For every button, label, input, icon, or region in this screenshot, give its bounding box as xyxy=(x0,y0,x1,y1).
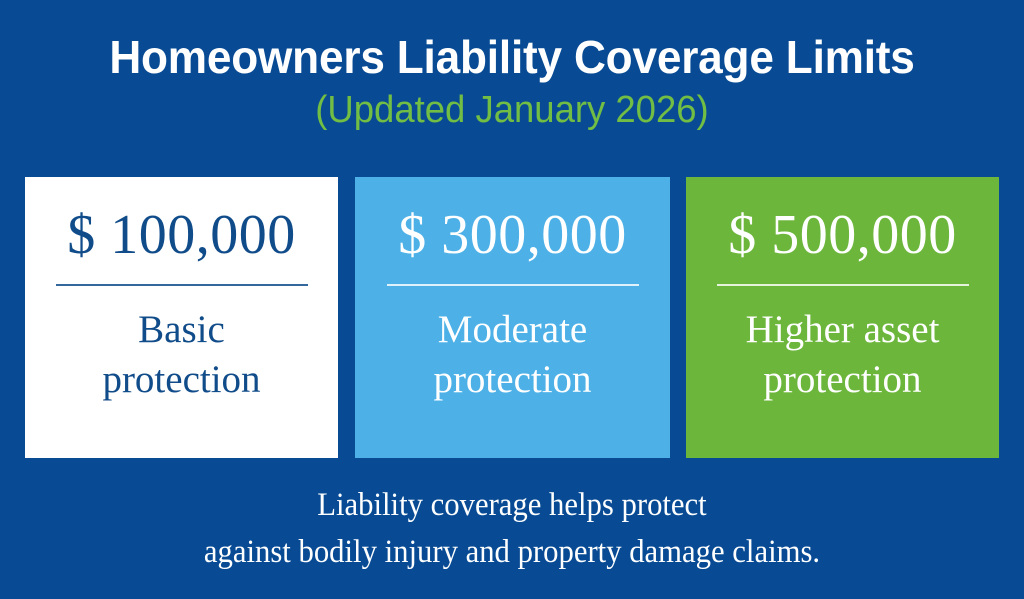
coverage-card-basic: $ 100,000 Basic protection xyxy=(25,177,338,458)
coverage-card-higher-asset: $ 500,000 Higher asset protection xyxy=(686,177,999,458)
coverage-amount: $ 100,000 xyxy=(67,203,296,267)
coverage-label-line1: Higher asset xyxy=(746,305,940,355)
header: Homeowners Liability Coverage Limits (Up… xyxy=(0,0,1024,132)
card-divider xyxy=(387,284,639,286)
coverage-label: Higher asset protection xyxy=(746,286,940,405)
page-title: Homeowners Liability Coverage Limits xyxy=(20,31,1003,83)
infographic-root: Homeowners Liability Coverage Limits (Up… xyxy=(0,0,1024,599)
coverage-card-moderate: $ 300,000 Moderate protection xyxy=(355,177,670,458)
card-divider xyxy=(717,284,969,286)
coverage-label: Moderate protection xyxy=(433,286,591,405)
footer-note: Liability coverage helps protect against… xyxy=(0,482,1024,576)
coverage-label-line2: protection xyxy=(746,355,940,405)
footer-line-2: against bodily injury and property damag… xyxy=(36,529,988,576)
coverage-label-line1: Basic xyxy=(102,305,260,355)
coverage-amount: $ 500,000 xyxy=(728,203,957,267)
page-subtitle: (Updated January 2026) xyxy=(20,83,1003,132)
coverage-label-line2: protection xyxy=(102,355,260,405)
coverage-label-line1: Moderate xyxy=(433,305,591,355)
coverage-label: Basic protection xyxy=(102,286,260,405)
card-divider xyxy=(56,284,308,286)
coverage-amount: $ 300,000 xyxy=(398,203,627,267)
coverage-cards: $ 100,000 Basic protection $ 300,000 Mod… xyxy=(25,177,999,458)
footer-line-1: Liability coverage helps protect xyxy=(36,482,988,529)
coverage-label-line2: protection xyxy=(433,355,591,405)
